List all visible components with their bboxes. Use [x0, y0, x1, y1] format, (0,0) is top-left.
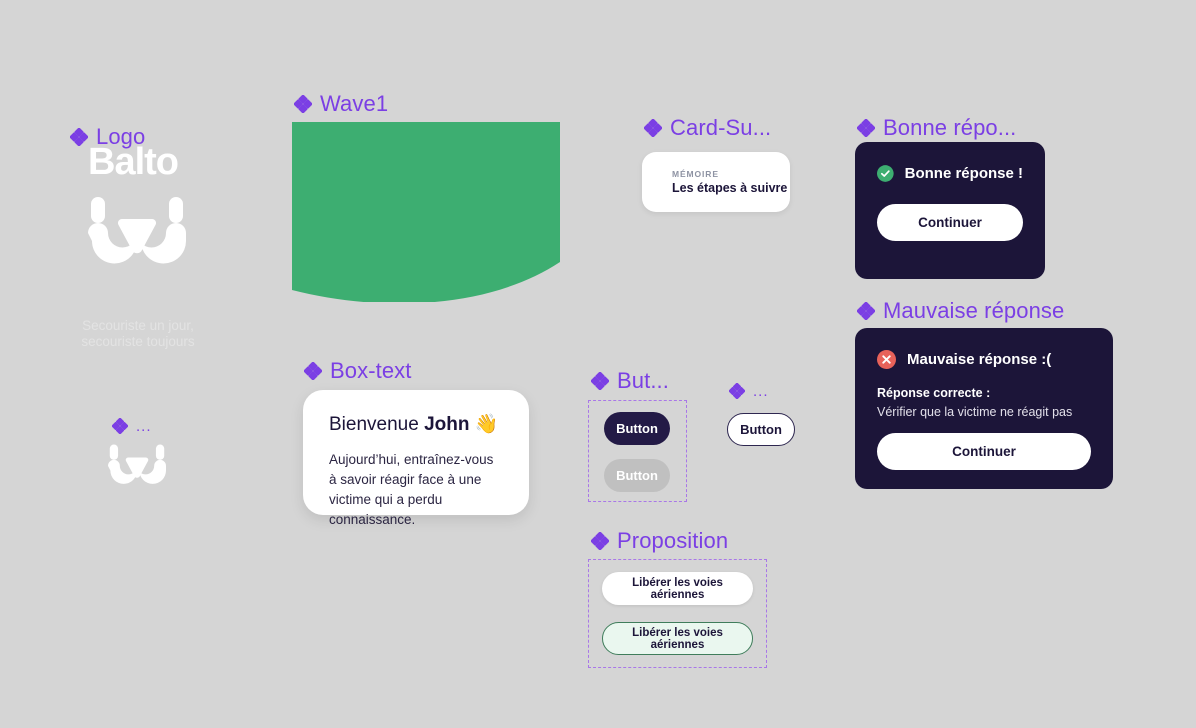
logo-tagline: Secouriste un jour, secouriste toujours — [48, 318, 228, 350]
logo-wordmark-visible: Balto — [88, 143, 178, 181]
check-circle-icon — [877, 164, 894, 183]
waving-hand-emoji: 👋 — [475, 414, 499, 435]
component-diamond-icon — [70, 128, 88, 146]
x-circle-icon — [877, 350, 896, 369]
section-label-text: Box-text — [330, 360, 412, 382]
section-label-logo-small: ... — [112, 418, 152, 434]
component-diamond-icon — [591, 372, 609, 390]
wrong-answer-continue-button[interactable]: Continuer — [877, 433, 1091, 470]
component-diamond-icon — [304, 362, 322, 380]
box-text-card: Bienvenue John 👋 Aujourd’hui, entraînez-… — [303, 390, 529, 515]
disabled-button: Button — [604, 459, 670, 492]
good-answer-card: Bonne réponse ! Continuer — [855, 142, 1045, 279]
wave-shape — [292, 122, 560, 302]
section-label-wrong-answer: Mauvaise réponse — [857, 300, 1064, 322]
proposition-option-selected[interactable]: Libérer les voies aériennes — [602, 622, 753, 655]
good-answer-heading: Bonne réponse ! — [905, 165, 1023, 182]
section-label-text: Bonne répo... — [883, 117, 1016, 139]
wrong-answer-correct-text: Vérifier que la victime ne réagit pas — [877, 405, 1091, 419]
proposition-option-default[interactable]: Libérer les voies aériennes — [602, 572, 753, 605]
good-answer-header: Bonne réponse ! — [877, 164, 1023, 183]
component-diamond-icon — [294, 95, 312, 113]
component-diamond-icon — [857, 119, 875, 137]
section-label-text: Card-Su... — [670, 117, 771, 139]
box-text-greeting: Bienvenue John 👋 — [329, 414, 503, 437]
wrong-answer-card: Mauvaise réponse :( Réponse correcte : V… — [855, 328, 1113, 489]
wrong-answer-correct-label: Réponse correcte : — [877, 386, 1091, 400]
dog-face-icon — [108, 443, 166, 491]
wave-shape-container — [292, 122, 560, 302]
section-label-text: But... — [617, 370, 669, 392]
section-label-card-summary: Card-Su... — [644, 117, 771, 139]
component-diamond-icon — [857, 302, 875, 320]
component-diamond-icon — [591, 532, 609, 550]
section-label-wave1: Wave1 — [294, 93, 388, 115]
section-label-good-answer: Bonne répo... — [857, 117, 1016, 139]
outline-button[interactable]: Button — [727, 413, 795, 446]
component-diamond-icon — [644, 119, 662, 137]
card-summary-kicker: MÉMOIRE — [672, 169, 787, 179]
component-diamond-icon — [729, 383, 745, 399]
section-label-box-text: Box-text — [304, 360, 412, 382]
card-summary[interactable]: MÉMOIRE Les étapes à suivre — [642, 152, 790, 212]
component-diamond-icon — [112, 418, 128, 434]
dog-face-icon — [88, 195, 186, 275]
section-label-text: Proposition — [617, 530, 728, 552]
box-text-greeting-prefix: Bienvenue — [329, 414, 424, 435]
box-text-greeting-name: John — [424, 414, 469, 435]
section-label-text: ... — [753, 384, 769, 399]
section-label-buttons: But... — [591, 370, 669, 392]
section-label-text: Mauvaise réponse — [883, 300, 1064, 322]
box-text-body: Aujourd’hui, entraînez-vous à savoir réa… — [329, 450, 503, 530]
balto-dog-face-logo-small — [108, 443, 166, 496]
wrong-answer-header: Mauvaise réponse :( — [877, 350, 1091, 369]
card-summary-title: Les étapes à suivre — [672, 181, 787, 195]
good-answer-continue-button[interactable]: Continuer — [877, 204, 1023, 241]
section-label-text: Wave1 — [320, 93, 388, 115]
card-summary-texts: MÉMOIRE Les étapes à suivre — [672, 169, 787, 195]
section-label-button-outline: ... — [729, 383, 769, 399]
wrong-answer-heading: Mauvaise réponse :( — [907, 351, 1051, 368]
section-label-proposition: Proposition — [591, 530, 728, 552]
figma-canvas: Logo Balto Secouriste un jour, secourist… — [0, 0, 1196, 728]
primary-button[interactable]: Button — [604, 412, 670, 445]
section-label-text: ... — [136, 419, 152, 434]
balto-dog-face-logo — [88, 195, 186, 280]
